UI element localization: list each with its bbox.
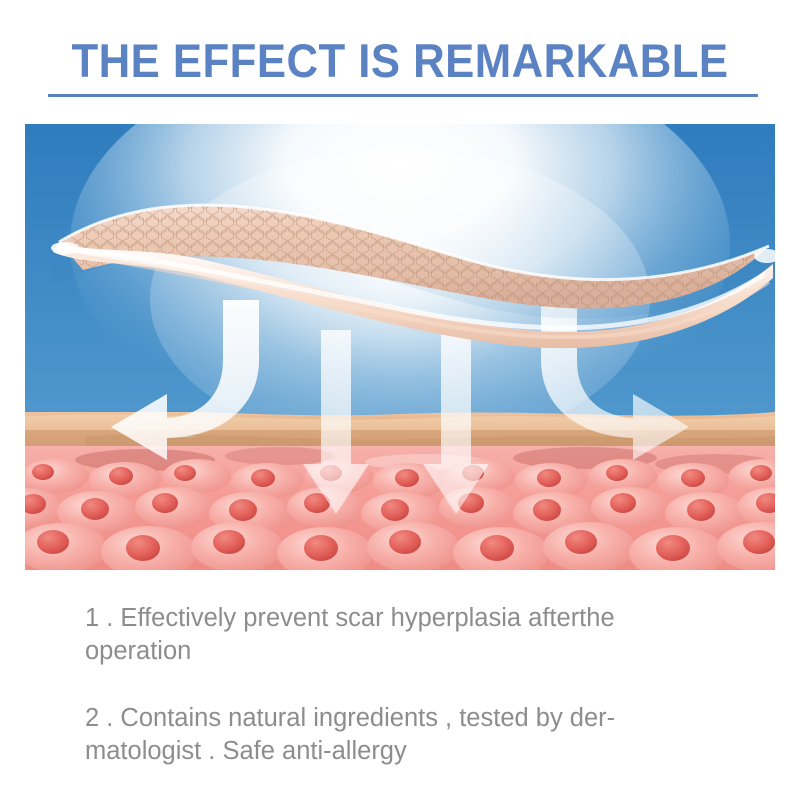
- product-illustration: [25, 124, 775, 570]
- page-header: THE EFFECT IS REMARKABLE: [0, 36, 800, 85]
- benefit-item-2: 2 . Contains natural ingredients , teste…: [85, 702, 685, 768]
- benefit-item-1: 1 . Effectively prevent scar hyperplasia…: [85, 602, 685, 668]
- benefits-list: 1 . Effectively prevent scar hyperplasia…: [85, 602, 685, 769]
- title-underline-rule: [48, 94, 758, 97]
- page-title: THE EFFECT IS REMARKABLE: [28, 36, 772, 85]
